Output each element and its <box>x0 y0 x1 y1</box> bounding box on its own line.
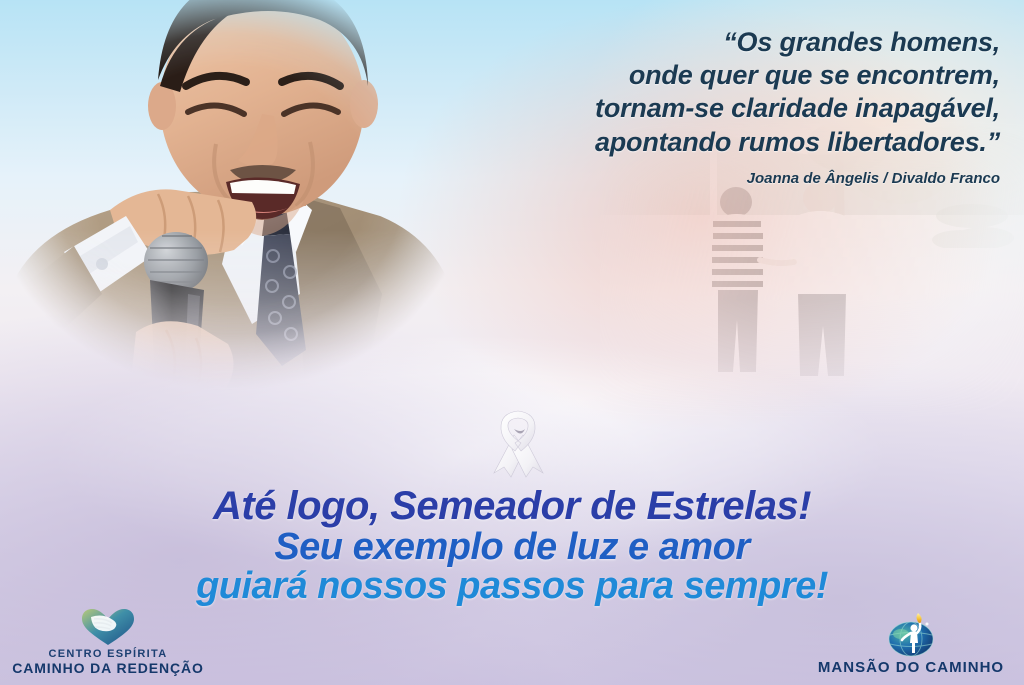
logo-left-line-1: CENTRO ESPÍRITA <box>8 648 208 661</box>
logo-left-line-2: CAMINHO DA REDENÇÃO <box>8 660 208 677</box>
globe-figure-flame-icon <box>887 613 935 657</box>
white-ribbon-icon <box>487 409 549 483</box>
quote-line-4: apontando rumos libertadores.” <box>380 126 1000 159</box>
quote-line-1: “Os grandes homens, <box>380 26 1000 59</box>
headline-line-2: Seu exemplo de luz e amor <box>0 528 1024 568</box>
quote-line-3: tornam-se claridade inapagável, <box>380 92 1000 125</box>
quote-text: “Os grandes homens, onde quer que se enc… <box>380 26 1000 159</box>
heart-hands-icon <box>81 608 135 646</box>
quote-line-2: onde quer que se encontrem, <box>380 59 1000 92</box>
headline: Até logo, Semeador de Estrelas! Seu exem… <box>0 486 1024 607</box>
logo-right-line-1: MANSÃO DO CAMINHO <box>806 659 1016 677</box>
memorial-poster: “Os grandes homens, onde quer que se enc… <box>0 0 1024 685</box>
logo-mansao-do-caminho: MANSÃO DO CAMINHO <box>806 613 1016 677</box>
background-photo <box>600 120 1024 420</box>
headline-line-3: guiará nossos passos para sempre! <box>0 567 1024 607</box>
quote-attribution: Joanna de Ângelis / Divaldo Franco <box>380 170 1000 187</box>
logo-centro-espirita: CENTRO ESPÍRITA CAMINHO DA REDENÇÃO <box>8 608 208 677</box>
headline-line-1: Até logo, Semeador de Estrelas! <box>0 486 1024 528</box>
